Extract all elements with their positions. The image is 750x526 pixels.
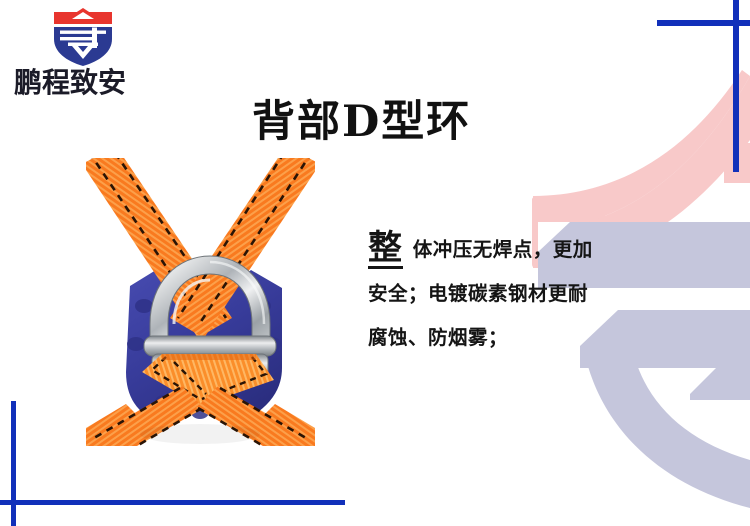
description-drop-cap: 整 bbox=[368, 231, 403, 269]
promo-banner: 鹏程致安 背部D型环 bbox=[0, 0, 750, 526]
feature-description: 整 体冲压无焊点，更加 安全；电镀碳素钢材更耐 腐蚀、防烟雾； bbox=[368, 228, 664, 360]
page-title: 背部D型环 bbox=[252, 96, 582, 152]
safety-harness-back-d-ring-photo bbox=[86, 158, 315, 446]
description-line-1-rest: 体冲压无焊点，更加 bbox=[413, 238, 593, 261]
blue-cross-lines-top-right bbox=[657, 0, 750, 172]
shield-logo-icon bbox=[52, 8, 114, 66]
brand-logo: 鹏程致安 bbox=[14, 8, 174, 104]
description-line-3: 腐蚀、防烟雾； bbox=[368, 316, 664, 360]
brand-wordmark: 鹏程致安 bbox=[14, 66, 174, 102]
description-line-2: 安全；电镀碳素钢材更耐 bbox=[368, 272, 664, 316]
description-line-1: 整 体冲压无焊点，更加 bbox=[368, 228, 664, 272]
pink-decorative-square bbox=[724, 143, 750, 183]
